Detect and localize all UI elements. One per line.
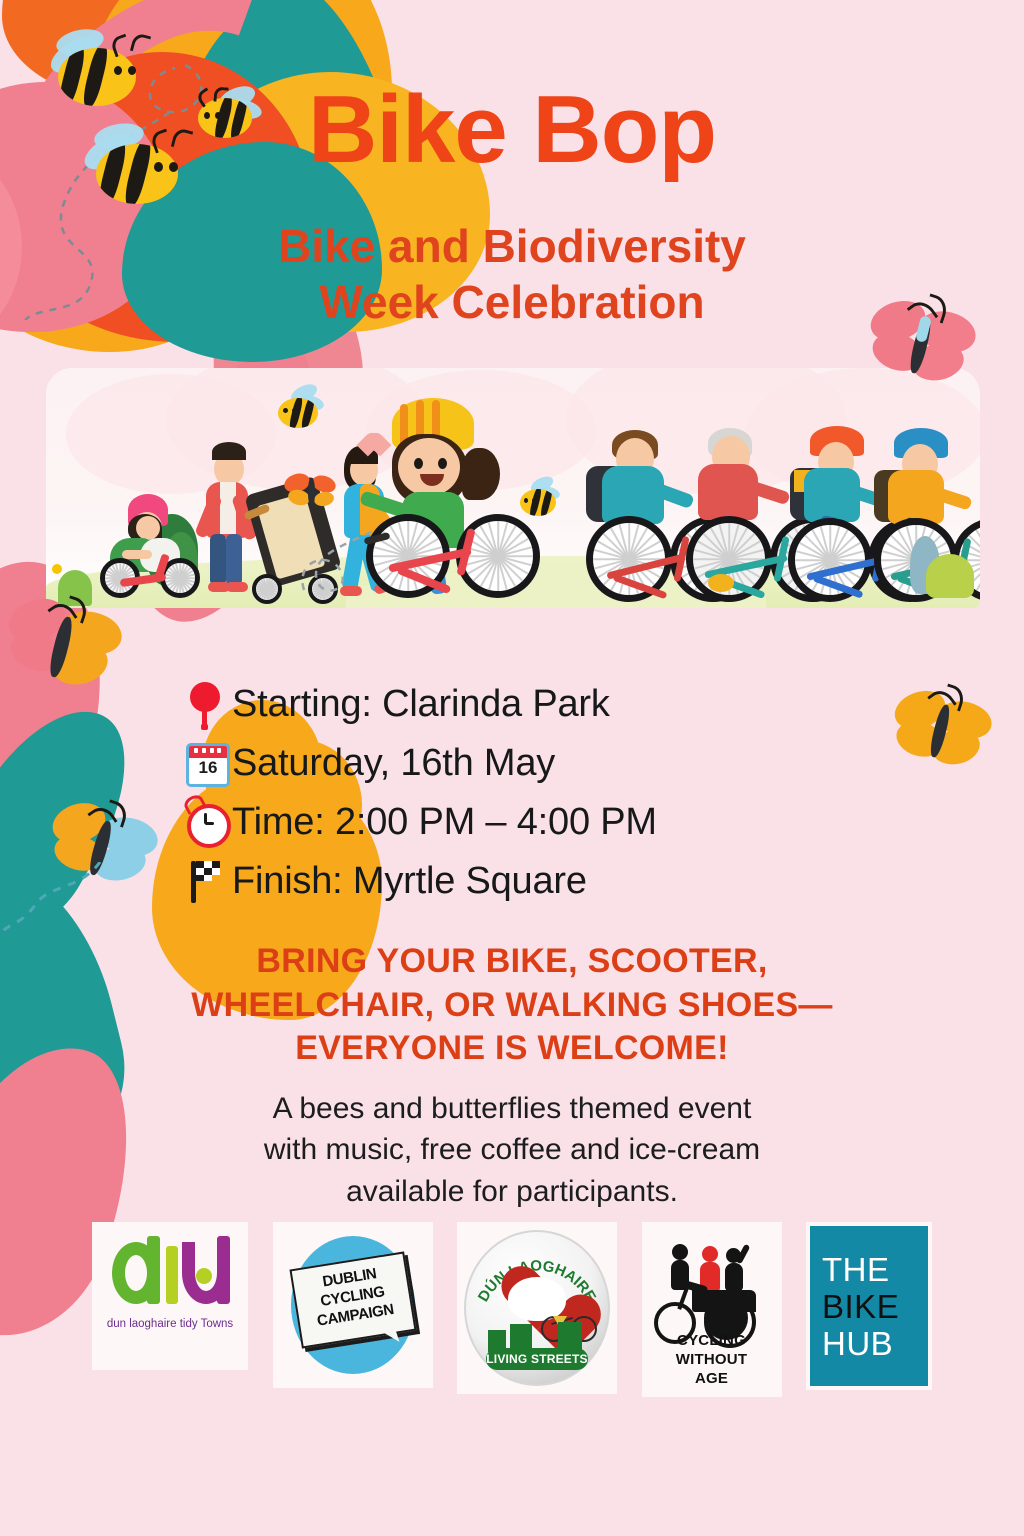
cta-line-2: WHEELCHAIR, OR WALKING SHOES—: [92, 984, 932, 1028]
bee-icon-illustration: [274, 386, 334, 434]
cwa-line-3: AGE: [648, 1369, 776, 1388]
tbh-line-3: HUB: [822, 1325, 893, 1362]
description-line-2: with music, free coffee and ice-cream: [132, 1129, 892, 1170]
detail-row-location: Starting: Clarinda Park: [178, 676, 798, 732]
detail-row-time: Time: 2:00 PM – 4:00 PM: [178, 794, 798, 850]
clock-icon: [178, 798, 232, 846]
butterfly-icon-right-top: [870, 300, 990, 388]
location-pin-icon: [178, 680, 232, 728]
illustration-band: [46, 368, 980, 608]
tbh-line-2: BIKE: [822, 1288, 899, 1325]
dlls-band-text: LIVING STREETS: [486, 1348, 588, 1370]
detail-text-date: Saturday, 16th May: [232, 742, 555, 785]
detail-row-date: 16 Saturday, 16th May: [178, 735, 798, 791]
rider-toddler-on-trike: [86, 488, 206, 598]
cwa-line-2: WITHOUT: [648, 1350, 776, 1369]
butterfly-icon-left-top: [8, 600, 138, 692]
poster-root: Bike Bop Bike and Biodiversity Week Cele…: [0, 0, 1024, 1536]
page-title: Bike Bop: [0, 82, 1024, 178]
subtitle-line-1: Bike and Biodiversity: [0, 218, 1024, 274]
detail-row-finish: Finish: Myrtle Square: [178, 853, 798, 909]
logo-cycling-without-age: CYCLING WITHOUT AGE: [642, 1222, 782, 1397]
call-to-action: BRING YOUR BIKE, SCOOTER, WHEELCHAIR, OR…: [92, 940, 932, 1071]
calendar-icon: 16: [178, 739, 232, 787]
logo-dun-laoghaire-living-streets: DÚN LAOGHAIRE LIVING STREETS: [457, 1222, 617, 1394]
tbh-line-1: THE: [822, 1251, 890, 1288]
bee-icon-illustration-right: [516, 478, 570, 522]
event-description: A bees and butterflies themed event with…: [132, 1088, 892, 1212]
detail-text-finish: Finish: Myrtle Square: [232, 860, 587, 903]
finish-flag-icon: [178, 857, 232, 905]
logo-dublin-cycling-campaign: DUBLIN CYCLING CAMPAIGN: [273, 1222, 433, 1388]
cta-line-1: BRING YOUR BIKE, SCOOTER,: [92, 940, 932, 984]
logo-dun-laoghaire-tidy-towns: dun laoghaire tidy Towns: [92, 1222, 248, 1370]
logo-the-bike-hub: THE BIKE HUB: [806, 1222, 932, 1390]
sponsor-logos-row: dun laoghaire tidy Towns DUBLIN CYCLING …: [92, 1222, 932, 1397]
butterfly-icon-right-mid: [894, 690, 1006, 774]
event-details-list: Starting: Clarinda Park 16 Saturday, 16t…: [178, 676, 798, 912]
description-line-1: A bees and butterflies themed event: [132, 1088, 892, 1129]
calendar-day-number: 16: [189, 758, 227, 778]
detail-text-time: Time: 2:00 PM – 4:00 PM: [232, 801, 657, 844]
logo-caption-tidy-towns: dun laoghaire tidy Towns: [100, 1318, 240, 1330]
cwa-label: CYCLING WITHOUT AGE: [648, 1331, 776, 1388]
butterfly-icon-illustration: [284, 474, 340, 514]
detail-text-location: Starting: Clarinda Park: [232, 683, 610, 726]
description-line-3: available for participants.: [132, 1171, 892, 1212]
cwa-line-1: CYCLING: [648, 1331, 776, 1350]
butterfly-icon-left-bottom: [52, 800, 174, 886]
dlt-wordmark: [112, 1242, 232, 1306]
cta-line-3: EVERYONE IS WELCOME!: [92, 1027, 932, 1071]
